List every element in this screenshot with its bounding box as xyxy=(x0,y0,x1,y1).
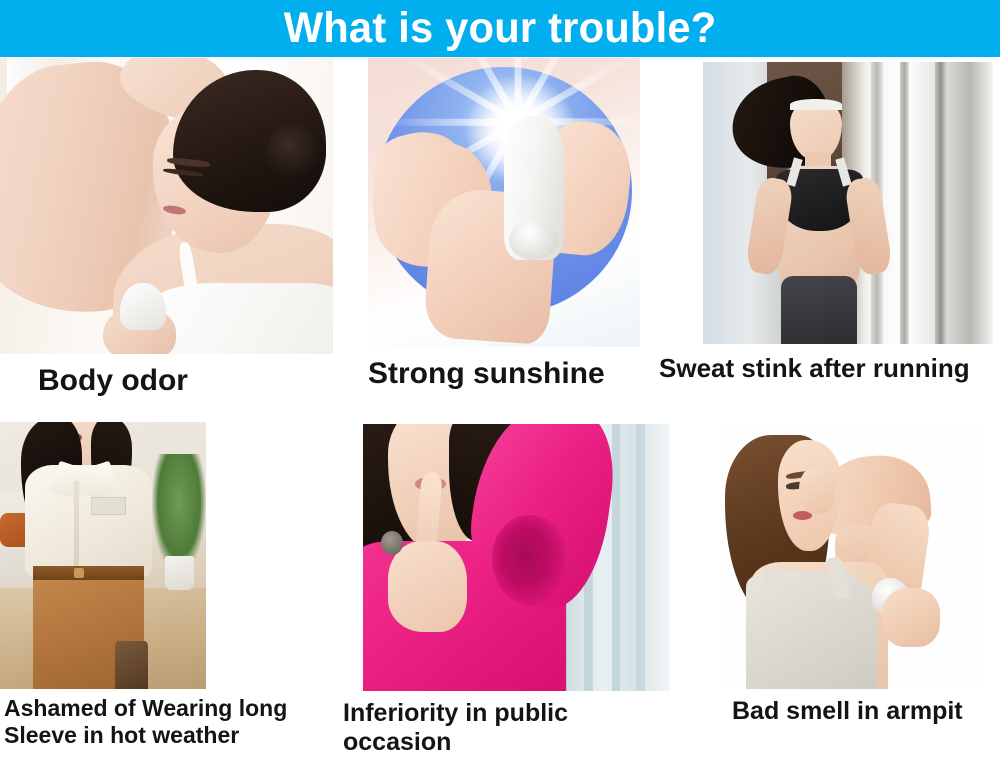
grid-cell-strong-sunshine: Strong sunshine xyxy=(368,58,640,391)
image-inferiority xyxy=(363,424,670,691)
image-body-odor xyxy=(0,58,333,354)
caption-strong-sunshine: Strong sunshine xyxy=(368,357,640,391)
image-sweat-stink xyxy=(703,62,993,344)
image-strong-sunshine xyxy=(368,58,640,347)
grid-cell-sweat-stink: Sweat stink after running xyxy=(703,62,1000,383)
grid-cell-body-odor: Body odor xyxy=(0,58,333,398)
caption-bad-smell-armpit: Bad smell in armpit xyxy=(720,697,1000,726)
caption-inferiority: Inferiority in public occasion xyxy=(343,699,683,757)
grid-cell-inferiority: Inferiority in public occasion xyxy=(363,424,683,757)
caption-ashamed-long-sleeve: Ashamed of Wearing long Sleeve in hot we… xyxy=(0,695,290,749)
grid-cell-ashamed-long-sleeve: Ashamed of Wearing long Sleeve in hot we… xyxy=(0,422,290,749)
caption-sweat-stink: Sweat stink after running xyxy=(659,353,1000,383)
grid-cell-bad-smell-armpit: Bad smell in armpit xyxy=(720,424,1000,726)
caption-body-odor: Body odor xyxy=(0,364,333,398)
page-title: What is your trouble? xyxy=(284,5,717,52)
header-banner: What is your trouble? xyxy=(0,0,1000,57)
image-bad-smell-armpit xyxy=(720,424,982,689)
image-ashamed-long-sleeve xyxy=(0,422,206,689)
